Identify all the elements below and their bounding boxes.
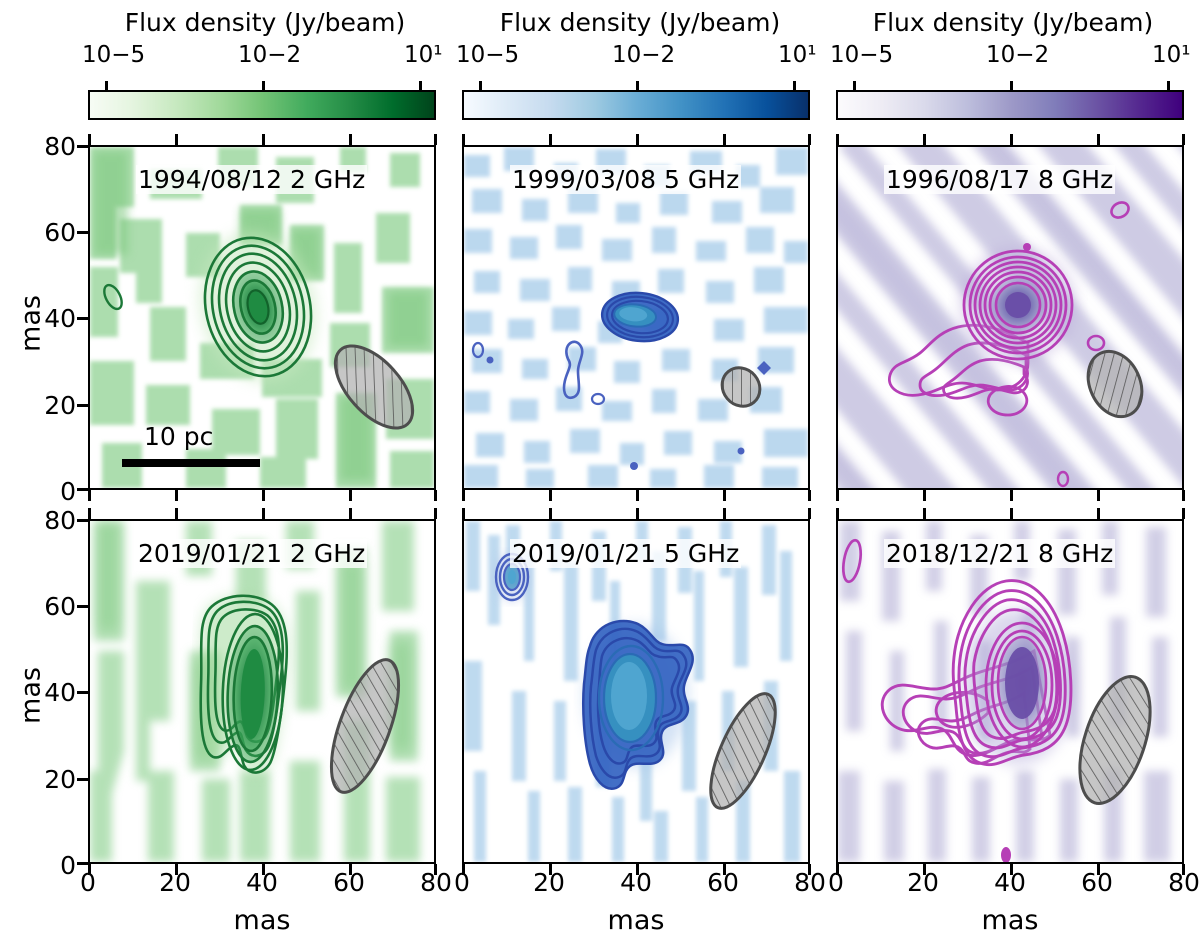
xtickmark-mid-c2-20 xyxy=(923,490,926,501)
xtickmark-mid2-c0-20 xyxy=(175,508,178,519)
xtickmark-mid2-c1-20 xyxy=(549,508,552,519)
ytickmark-r0-0 xyxy=(77,488,88,491)
xtickmark-top-c0-40 xyxy=(262,134,265,145)
scalebar-1 xyxy=(122,459,260,467)
xtickmark-bot-c2-60 xyxy=(1097,864,1100,875)
colorbar-tickmark-blue-2 xyxy=(793,81,796,90)
xtickmark-mid2-c0-80 xyxy=(434,508,437,519)
xtickmark-mid-c2-0 xyxy=(836,490,839,501)
figure-root: Flux density (Jy/beam) 10−5 10−2 10¹ Flu… xyxy=(0,0,1200,946)
xtickmark-bot-c0-60 xyxy=(349,864,352,875)
xtickmark-mid-c0-0 xyxy=(88,490,91,501)
xtickmark-mid-c0-40 xyxy=(262,490,265,501)
ytickmark-r0-60 xyxy=(77,231,88,234)
xtickmark-mid-c0-80 xyxy=(434,490,437,501)
xtickmark-mid-c0-20 xyxy=(175,490,178,501)
colorbar-tickmark-blue-1 xyxy=(636,81,639,90)
source-core-p6 xyxy=(953,581,1074,765)
xtickmark-bot-c0-0 xyxy=(88,864,91,875)
ytickmark-r0-20 xyxy=(77,404,88,407)
colorbar-green xyxy=(88,90,436,120)
xtickmark-top-c0-60 xyxy=(349,134,352,145)
xtickmark-bot-c0-80 xyxy=(434,864,437,875)
panel-label-6: 2018/12/21 8 GHz xyxy=(884,539,1115,568)
xtickmark-top-c1-40 xyxy=(636,134,639,145)
xtickmark-mid2-c0-60 xyxy=(349,508,352,519)
xtickmark-top-c0-0 xyxy=(88,134,91,145)
ytickmark-r1-80 xyxy=(77,519,88,522)
colorbar-tickmark-green-2 xyxy=(419,81,422,90)
xtickmark-top-c2-80 xyxy=(1182,134,1185,145)
ytick-row0-0: 0 xyxy=(28,477,76,506)
xtickmark-bot-c1-20 xyxy=(549,864,552,875)
xtickmark-top-c1-60 xyxy=(723,134,726,145)
ytick-row0-60: 60 xyxy=(28,218,76,247)
xtickmark-bot-c0-40 xyxy=(262,864,265,875)
ytickmark-r1-0 xyxy=(77,862,88,865)
xtickmark-mid2-c2-20 xyxy=(923,508,926,519)
colorbar-tickmark-purple-2 xyxy=(1167,81,1170,90)
xtickmark-top-c1-80 xyxy=(808,134,811,145)
xtickmark-mid-c1-40 xyxy=(636,490,639,501)
colorbar-title-purple: Flux density (Jy/beam) xyxy=(828,8,1198,37)
xtickmark-top-c0-20 xyxy=(175,134,178,145)
ytickmark-r1-20 xyxy=(77,778,88,781)
colorbar-blue xyxy=(462,90,810,120)
colorbar-tick-blue-2: 10¹ xyxy=(778,42,817,68)
colorbar-tickmark-purple-1 xyxy=(1010,81,1013,90)
xtickmark-top-c1-0 xyxy=(462,134,465,145)
panel-5-canvas xyxy=(464,521,808,862)
colorbar-tick-purple-1: 10−2 xyxy=(986,42,1049,68)
panel-4-canvas xyxy=(90,521,434,862)
xtickmark-mid2-c2-60 xyxy=(1097,508,1100,519)
xtickmark-mid2-c1-80 xyxy=(808,508,811,519)
xtickmark-mid-c2-60 xyxy=(1097,490,1100,501)
xtickmark-bot-c0-20 xyxy=(175,864,178,875)
panel-2019-01-21-2ghz[interactable]: 2019/01/21 2 GHz xyxy=(88,519,436,864)
source-core-p3 xyxy=(960,247,1076,363)
xtickmark-mid2-c2-0 xyxy=(836,508,839,519)
panel-label-3: 1996/08/17 8 GHz xyxy=(884,165,1115,194)
xtickmark-mid2-c2-40 xyxy=(1010,508,1013,519)
dot-p2a xyxy=(592,394,604,404)
colorbar-tick-purple-2: 10¹ xyxy=(1152,42,1191,68)
xtickmark-top-c2-20 xyxy=(923,134,926,145)
panel-1999-03-08-5ghz[interactable]: 1999/03/08 5 GHz xyxy=(462,145,810,490)
colorbar-tick-green-2: 10¹ xyxy=(404,42,443,68)
colorbar-tickmark-blue-0 xyxy=(479,81,482,90)
panel-2019-01-21-5ghz[interactable]: 2019/01/21 5 GHz xyxy=(462,519,810,864)
colorbar-tick-blue-0: 10−5 xyxy=(456,42,519,68)
panel-2018-12-21-8ghz[interactable]: 2018/12/21 8 GHz xyxy=(836,519,1184,864)
ytick-row1-80: 80 xyxy=(28,506,76,535)
xtickmark-top-c0-80 xyxy=(434,134,437,145)
colorbar-tick-blue-1: 10−2 xyxy=(612,42,675,68)
xtickmark-top-c1-20 xyxy=(549,134,552,145)
panel-2-canvas xyxy=(464,147,808,488)
panel-6-canvas xyxy=(838,521,1182,862)
x-axis-label-col2: mas xyxy=(836,905,1184,936)
ytick-row0-20: 20 xyxy=(28,391,76,420)
xtickmark-top-c2-60 xyxy=(1097,134,1100,145)
xtickmark-mid-c1-0 xyxy=(462,490,465,501)
xtickmark-mid-c2-80 xyxy=(1182,490,1185,501)
xtickmark-bot-c1-80 xyxy=(808,864,811,875)
ytickmark-r0-40 xyxy=(77,317,88,320)
dot-p6 xyxy=(1001,847,1011,862)
colorbar-title-blue: Flux density (Jy/beam) xyxy=(455,8,825,37)
ytick-row1-40: 40 xyxy=(28,678,76,707)
ytickmark-r0-80 xyxy=(77,145,88,148)
scalebar-label-1: 10 pc xyxy=(144,422,213,451)
xtickmark-bot-c2-80 xyxy=(1182,864,1185,875)
xtickmark-bot-c2-20 xyxy=(923,864,926,875)
dot-p3a xyxy=(1023,243,1031,251)
colorbar-purple xyxy=(836,90,1184,120)
xtickmark-mid2-c0-0 xyxy=(88,508,91,519)
panel-label-1: 1994/08/12 2 GHz xyxy=(136,165,367,194)
x-axis-label-col0: mas xyxy=(88,905,436,936)
xtickmark-mid-c2-40 xyxy=(1010,490,1013,501)
x-axis-label-col1: mas xyxy=(462,905,810,936)
ytickmark-r1-40 xyxy=(77,691,88,694)
ytick-row0-40: 40 xyxy=(28,304,76,333)
xtickmark-bot-c1-40 xyxy=(636,864,639,875)
colorbar-tick-green-0: 10−5 xyxy=(82,42,145,68)
xtickmark-top-c2-0 xyxy=(836,134,839,145)
colorbar-tick-purple-0: 10−5 xyxy=(830,42,893,68)
dot-p2d xyxy=(630,462,638,470)
xtickmark-bot-c2-40 xyxy=(1010,864,1013,875)
ytickmark-r1-60 xyxy=(77,605,88,608)
colorbar-tickmark-purple-0 xyxy=(853,81,856,90)
colorbar-tickmark-green-1 xyxy=(262,81,265,90)
dot-p2b xyxy=(487,357,494,364)
colorbar-tick-green-1: 10−2 xyxy=(238,42,301,68)
panel-1-canvas xyxy=(90,147,434,488)
xtickmark-mid-c1-80 xyxy=(808,490,811,501)
xtickmark-bot-c1-0 xyxy=(462,864,465,875)
xtickmark-mid2-c0-40 xyxy=(262,508,265,519)
panel-1996-08-17-8ghz[interactable]: 1996/08/17 8 GHz xyxy=(836,145,1184,490)
xtickmark-mid-c1-60 xyxy=(723,490,726,501)
xtickmark-mid2-c2-80 xyxy=(1182,508,1185,519)
panel-1994-08-12-2ghz[interactable]: 1994/08/12 2 GHz 10 pc xyxy=(88,145,436,490)
panel-label-2: 1999/03/08 5 GHz xyxy=(510,165,741,194)
xtickmark-bot-c2-0 xyxy=(836,864,839,875)
colorbar-title-green: Flux density (Jy/beam) xyxy=(80,8,450,37)
ytick-row1-60: 60 xyxy=(28,592,76,621)
dot-p2e xyxy=(738,448,745,455)
xtickmark-top-c2-40 xyxy=(1010,134,1013,145)
xtickmark-mid2-c1-0 xyxy=(462,508,465,519)
ytick-row0-80: 80 xyxy=(28,132,76,161)
panel-label-4: 2019/01/21 2 GHz xyxy=(136,539,367,568)
source-core-p5 xyxy=(583,621,692,789)
panel-label-5: 2019/01/21 5 GHz xyxy=(510,539,741,568)
xtickmark-mid2-c1-40 xyxy=(636,508,639,519)
source-core-p4 xyxy=(197,594,289,773)
xtickmark-mid-c0-60 xyxy=(349,490,352,501)
colorbar-tickmark-green-0 xyxy=(105,81,108,90)
xtickmark-mid-c1-20 xyxy=(549,490,552,501)
panel-3-canvas xyxy=(838,147,1182,488)
ytick-row1-20: 20 xyxy=(28,765,76,794)
xtickmark-bot-c1-60 xyxy=(723,864,726,875)
xtickmark-mid2-c1-60 xyxy=(723,508,726,519)
